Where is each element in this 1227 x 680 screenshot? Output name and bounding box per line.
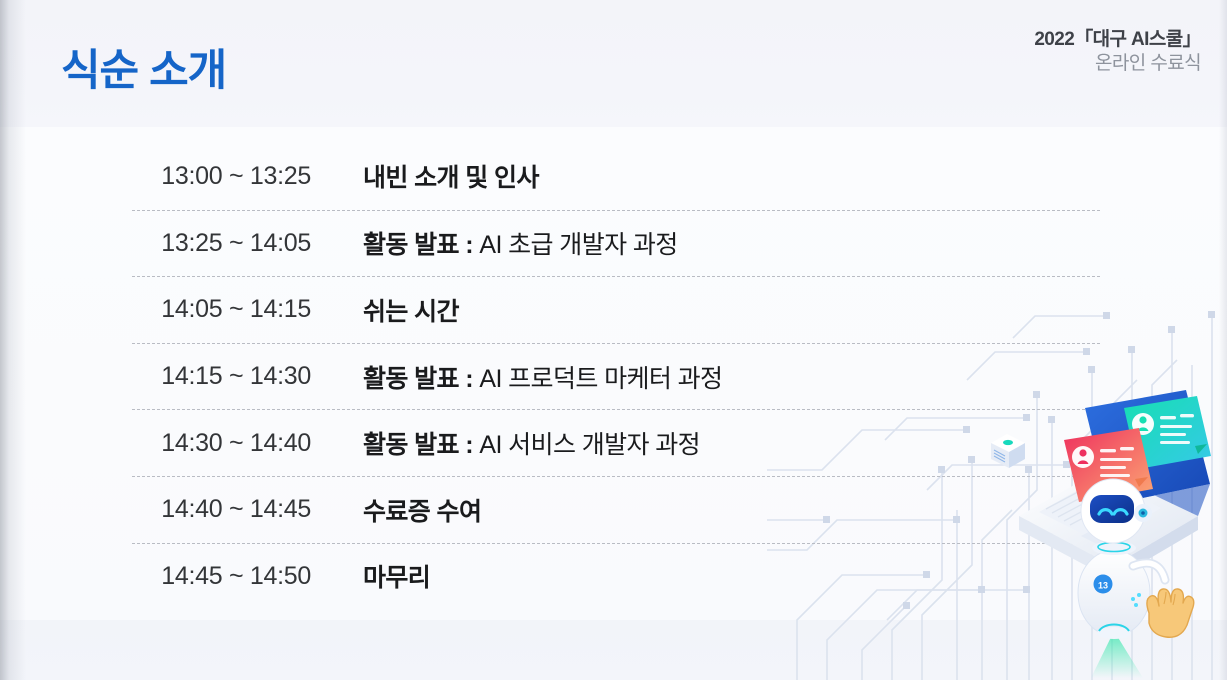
ai-chatbot-laptop-illustration: 13 (983, 388, 1227, 678)
agenda-row-title: 내빈 소개 및 인사 (363, 158, 539, 194)
svg-text:13: 13 (1098, 581, 1108, 591)
agenda-row-time: 14:05 ~ 14:15 (132, 295, 363, 324)
agenda-row-time: 13:25 ~ 14:05 (132, 229, 363, 258)
agenda-row: 14:30 ~ 14:40활동 발표 : AI 서비스 개발자 과정 (132, 409, 1100, 476)
agenda-row: 13:00 ~ 13:25내빈 소개 및 인사 (132, 143, 1100, 210)
agenda-row: 14:15 ~ 14:30활동 발표 : AI 프로덕트 마케터 과정 (132, 343, 1100, 410)
agenda-row-title: 활동 발표 : AI 초급 개발자 과정 (363, 225, 678, 261)
agenda-row-title-lead: 마무리 (363, 564, 430, 592)
agenda-row-title-rest: AI 서비스 개발자 과정 (473, 431, 700, 459)
event-subtitle: 온라인 수료식 (1034, 52, 1201, 76)
agenda-row-time: 13:00 ~ 13:25 (132, 162, 363, 191)
agenda-row-time: 14:45 ~ 14:50 (132, 562, 363, 591)
agenda-row: 14:40 ~ 14:45수료증 수여 (132, 476, 1100, 543)
waving-hand-emoji (1147, 589, 1194, 637)
agenda-row-title-lead: 쉬는 시간 (363, 298, 459, 326)
agenda-row-title: 쉬는 시간 (363, 292, 459, 328)
small-isometric-server-cube (991, 434, 1025, 468)
agenda-row-title-lead: 내빈 소개 및 인사 (363, 164, 539, 192)
agenda-table: 13:00 ~ 13:25내빈 소개 및 인사13:25 ~ 14:05활동 발… (132, 143, 1100, 609)
agenda-row-title-rest: AI 초급 개발자 과정 (473, 231, 678, 259)
agenda-row-time: 14:40 ~ 14:45 (132, 495, 363, 524)
left-edge-shadow (0, 0, 26, 680)
right-edge-shadow (1219, 0, 1227, 680)
agenda-row: 14:45 ~ 14:50마무리 (132, 543, 1100, 610)
agenda-row-time: 14:30 ~ 14:40 (132, 429, 363, 458)
slide-canvas: 식순 소개 2022「대구 AI스쿨」 온라인 수료식 13:00 ~ 13:2… (0, 0, 1227, 680)
agenda-row-time: 14:15 ~ 14:30 (132, 362, 363, 391)
agenda-row-title: 활동 발표 : AI 프로덕트 마케터 과정 (363, 359, 722, 395)
agenda-row: 13:25 ~ 14:05활동 발표 : AI 초급 개발자 과정 (132, 210, 1100, 277)
agenda-row-title-lead: 활동 발표 : (363, 231, 473, 259)
agenda-row-title-lead: 활동 발표 : (363, 431, 473, 459)
agenda-row: 14:05 ~ 14:15쉬는 시간 (132, 276, 1100, 343)
page-title: 식순 소개 (61, 36, 226, 98)
agenda-row-title-lead: 수료증 수여 (363, 498, 481, 526)
event-branding: 2022「대구 AI스쿨」 온라인 수료식 (1034, 28, 1201, 77)
agenda-row-title-rest: AI 프로덕트 마케터 과정 (473, 365, 722, 393)
agenda-row-title: 활동 발표 : AI 서비스 개발자 과정 (363, 425, 700, 461)
agenda-row-title: 수료증 수여 (363, 492, 481, 528)
agenda-row-title-lead: 활동 발표 : (363, 365, 473, 393)
agenda-row-title: 마무리 (363, 558, 430, 594)
event-name: 2022「대구 AI스쿨」 (1034, 28, 1201, 52)
